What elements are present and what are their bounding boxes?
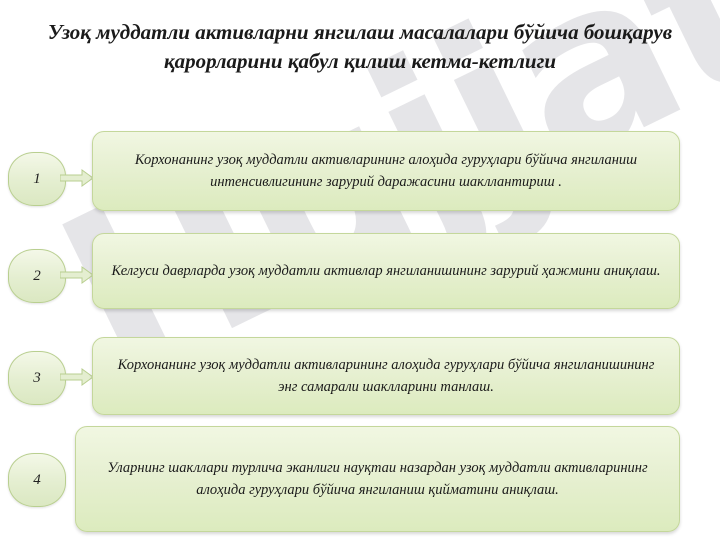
step-number-4[interactable]: 4 [8,453,66,507]
step-number-3[interactable]: 3 [8,351,66,405]
slide: Hujjat24 Узоқ муддатли активларни янгила… [0,0,720,540]
step-number-2-label: 2 [33,268,41,285]
step-text-3: Корхонанинг узоқ муддатли активларининг … [109,354,663,398]
arrow-icon-1 [60,168,94,188]
step-box-4[interactable]: Уларнинг шакллари турлича эканлиги науқт… [75,426,680,532]
step-number-1[interactable]: 1 [8,152,66,206]
page-title: Узоқ муддатли активларни янгилаш масалал… [36,18,684,76]
arrow-icon-3 [60,367,94,387]
step-text-2: Келгуси даврларда узоқ муддатли активлар… [109,260,663,282]
step-number-4-label: 4 [33,472,41,489]
flow-diagram: 1 Корхонанинг узоқ муддатли активларинин… [0,0,720,540]
step-text-1: Корхонанинг узоқ муддатли активларининг … [109,149,663,193]
step-number-1-label: 1 [33,171,41,188]
step-box-1[interactable]: Корхонанинг узоқ муддатли активларининг … [92,131,680,211]
step-box-3[interactable]: Корхонанинг узоқ муддатли активларининг … [92,337,680,415]
arrow-icon-2 [60,265,94,285]
step-box-2[interactable]: Келгуси даврларда узоқ муддатли активлар… [92,233,680,309]
step-number-2[interactable]: 2 [8,249,66,303]
step-number-3-label: 3 [33,370,41,387]
step-text-4: Уларнинг шакллари турлича эканлиги науқт… [92,457,663,501]
